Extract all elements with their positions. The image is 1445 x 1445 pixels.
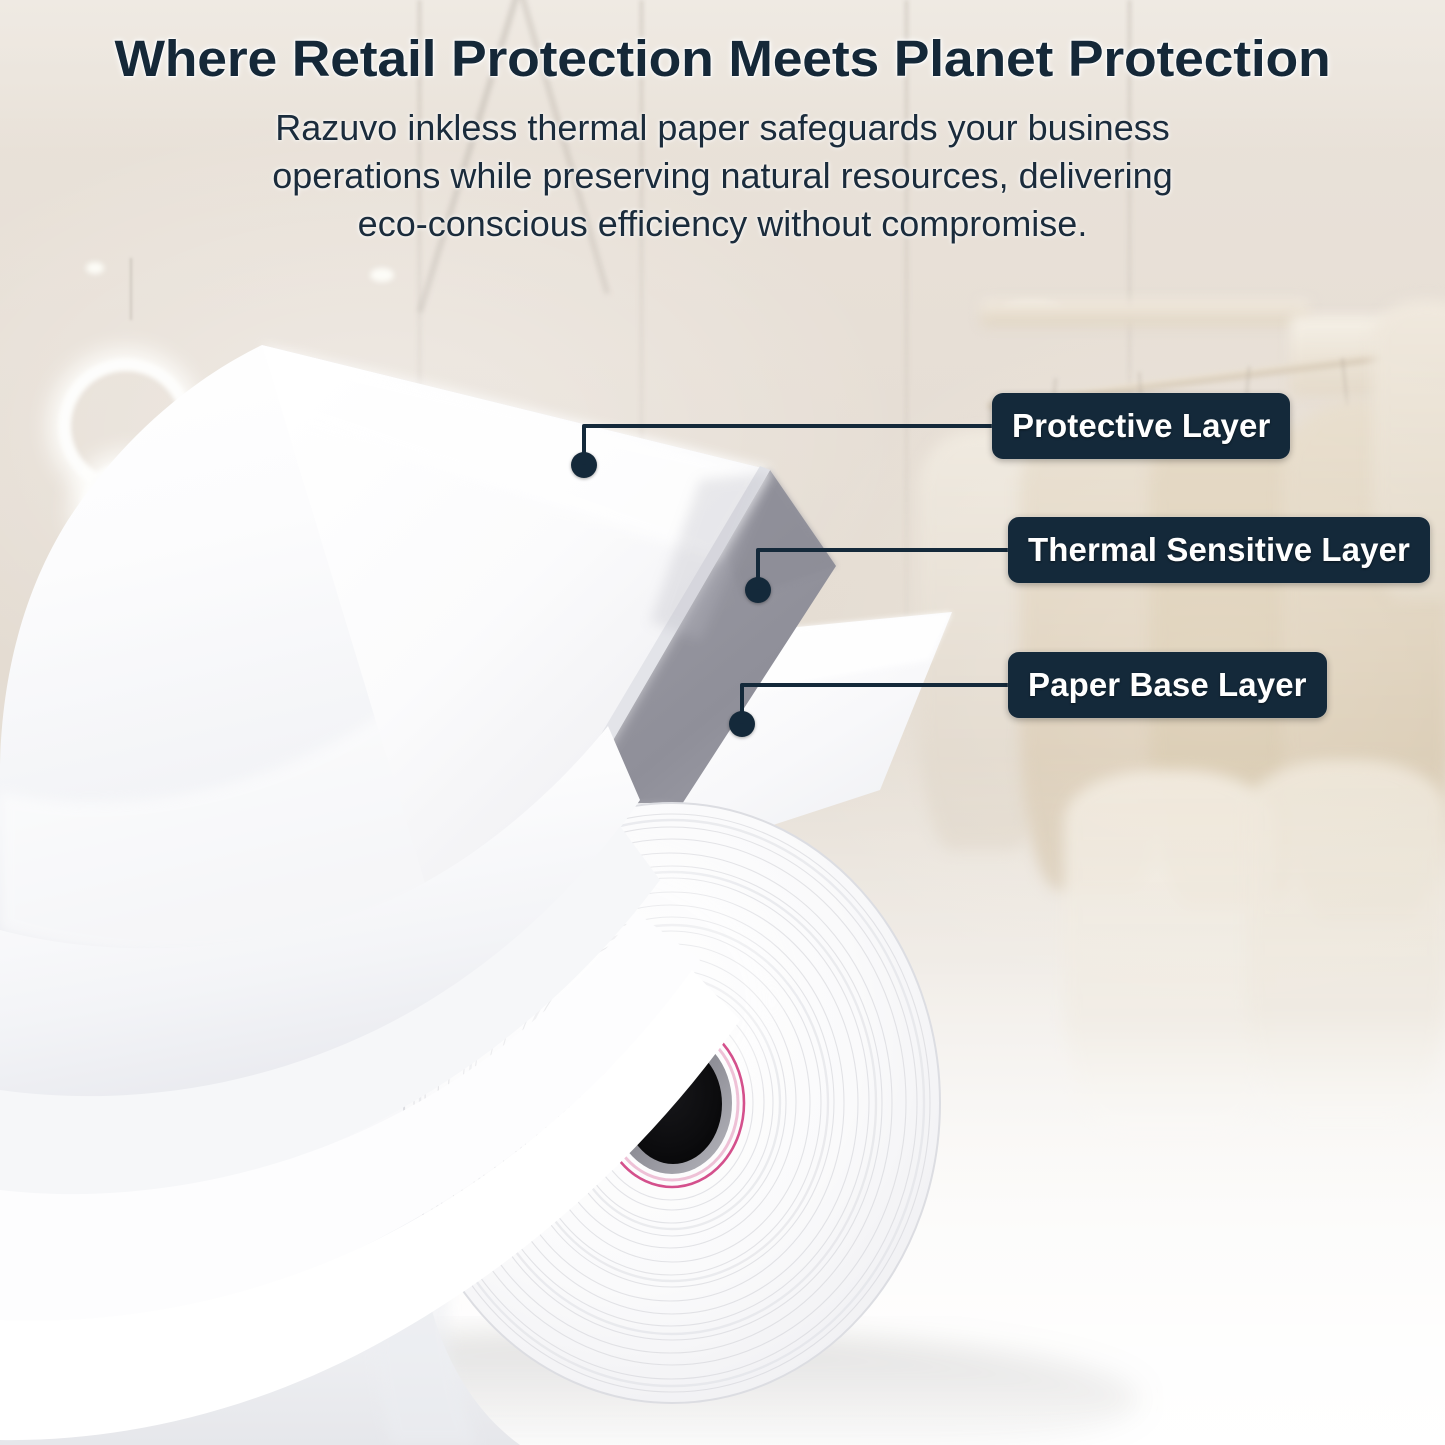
- leader-line-paper-base-layer: [740, 683, 1012, 687]
- leader-line-thermal-sensitive-layer: [756, 548, 1012, 552]
- leader-stem-thermal-sensitive-layer: [756, 549, 760, 590]
- callout-text: Protective Layer: [1012, 407, 1270, 445]
- infographic-canvas: Where Retail Protection Meets Planet Pro…: [0, 0, 1445, 1445]
- callout-text: Thermal Sensitive Layer: [1028, 531, 1410, 569]
- callout-label-protective-layer[interactable]: Protective Layer: [992, 393, 1290, 459]
- leader-stem-protective-layer: [582, 425, 586, 465]
- leader-line-protective-layer: [582, 424, 1000, 428]
- callout-text: Paper Base Layer: [1028, 666, 1307, 704]
- callout-annotations: Protective Layer Thermal Sensitive Layer…: [0, 0, 1445, 1445]
- callout-label-paper-base-layer[interactable]: Paper Base Layer: [1008, 652, 1327, 718]
- leader-stem-paper-base-layer: [740, 684, 744, 724]
- callout-label-thermal-sensitive-layer[interactable]: Thermal Sensitive Layer: [1008, 517, 1430, 583]
